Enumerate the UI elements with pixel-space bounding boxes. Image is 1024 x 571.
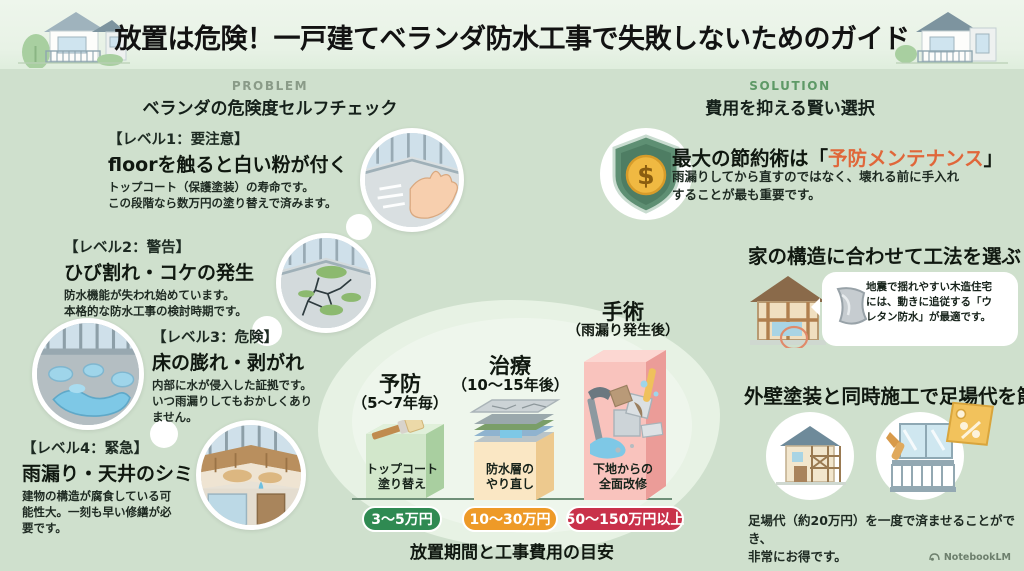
blistered-floor-water-photo <box>32 318 144 430</box>
bar-subcaption-2: （雨漏り発生後） <box>558 320 688 340</box>
bar-subcaption-0: （5〜7年毎） <box>352 392 448 413</box>
bar-worklabel-0: トップコート 塗り替え <box>352 462 452 492</box>
discount-tag-icon <box>938 398 1000 456</box>
cracked-floor-with-moss-photo <box>276 233 376 333</box>
house-illustration-icon <box>892 6 1010 68</box>
urethane-sheet-icon <box>830 285 870 337</box>
level-tag: 【レベル3：危険】 <box>152 326 348 347</box>
problem-level-3: 【レベル3：危険】 床の膨れ・剥がれ 内部に水が侵入した証拠です。 いつ雨漏りし… <box>152 326 348 426</box>
problem-level-2: 【レベル2：警告】 ひび割れ・コケの発生 防水機能が失われ始めています。 本格的… <box>64 236 292 320</box>
bar-worklabel-2: 下地からの 全面改修 <box>568 462 678 492</box>
problem-level-4: 【レベル4：緊急】 雨漏り・天井のシミ 建物の構造が腐食している可 能性大。一刻… <box>22 437 204 537</box>
urethane-tip-text: 地震で揺れやすい木造住宅 には、動きに追従する「ウ レタン防水」が最適です。 <box>866 280 1012 326</box>
solution-body-1: 雨漏りしてから直すのではなく、壊れる前に手入れ することが最も重要です。 <box>672 168 1002 204</box>
heading-prefix: 最大の節約術は「 <box>672 147 828 170</box>
bar-worklabel-1: 防水層の やり直し <box>458 462 562 492</box>
svg-text:$: $ <box>637 161 654 190</box>
cost-badge-0: 3〜5万円 <box>362 506 442 532</box>
infographic-canvas: 放置は危険！一戸建てベランダ防水工事で失敗しないためのガイド PROBLEM ベ… <box>0 0 1024 571</box>
level-heading: 床の膨れ・剥がれ <box>152 348 348 375</box>
problem-level-1: 【レベル1：要注意】 floorを触ると白い粉が付く トップコート（保護塗装）の… <box>108 128 358 212</box>
level-body: 建物の構造が腐食している可 能性大。一刻も早い修繕が必 要です。 <box>22 489 204 537</box>
level-body: トップコート（保護塗装）の寿命です。 この段階なら数万円の塗り替えで済みます。 <box>108 180 358 212</box>
heading-accent: 予防メンテナンス <box>828 147 984 170</box>
solution-heading-2: 家の構造に合わせて工法を選ぶ <box>748 240 1021 269</box>
level-tag: 【レベル4：緊急】 <box>22 437 204 458</box>
solution-label: SOLUTION <box>660 79 920 93</box>
ceiling-water-stain-photo <box>196 420 306 530</box>
problem-label: PROBLEM <box>140 79 400 93</box>
bar-subcaption-1: （10〜15年後） <box>452 374 568 395</box>
chart-caption: 放置期間と工事費用の目安 <box>352 538 672 563</box>
cost-badge-2: 50〜150万円以上 <box>566 506 684 532</box>
heading-suffix: 」 <box>984 147 1004 170</box>
level-heading: 雨漏り・天井のシミ <box>22 459 204 486</box>
watermark: NotebookLM <box>929 552 1011 563</box>
solution-subtitle: 費用を抑える賢い選択 <box>660 94 920 119</box>
solution-heading-1: 最大の節約術は「予防メンテナンス」 <box>672 142 1003 171</box>
notebooklm-icon <box>929 552 940 563</box>
level-body: 内部に水が侵入した証拠です。 いつ雨漏りしてもおかしくあり ません。 <box>152 378 348 426</box>
cost-badge-1: 10〜30万円 <box>462 506 558 532</box>
level-tag: 【レベル2：警告】 <box>64 236 292 257</box>
hand-touching-chalky-floor-photo <box>360 128 464 232</box>
header-banner: 放置は危険！一戸建てベランダ防水工事で失敗しないためのガイド <box>0 0 1024 70</box>
level-body: 防水機能が失われ始めています。 本格的な防水工事の検討時期です。 <box>64 288 292 320</box>
connector-dot <box>346 214 372 240</box>
level-tag: 【レベル1：要注意】 <box>108 128 358 149</box>
page-title: 放置は危険！一戸建てベランダ防水工事で失敗しないためのガイド <box>0 17 1024 56</box>
watermark-label: NotebookLM <box>944 552 1011 563</box>
level-heading: ひび割れ・コケの発生 <box>64 258 292 285</box>
problem-subtitle: ベランダの危険度セルフチェック <box>120 94 420 119</box>
house-with-scaffolding-icon <box>776 422 846 490</box>
level-heading: floorを触ると白い粉が付く <box>108 150 358 177</box>
